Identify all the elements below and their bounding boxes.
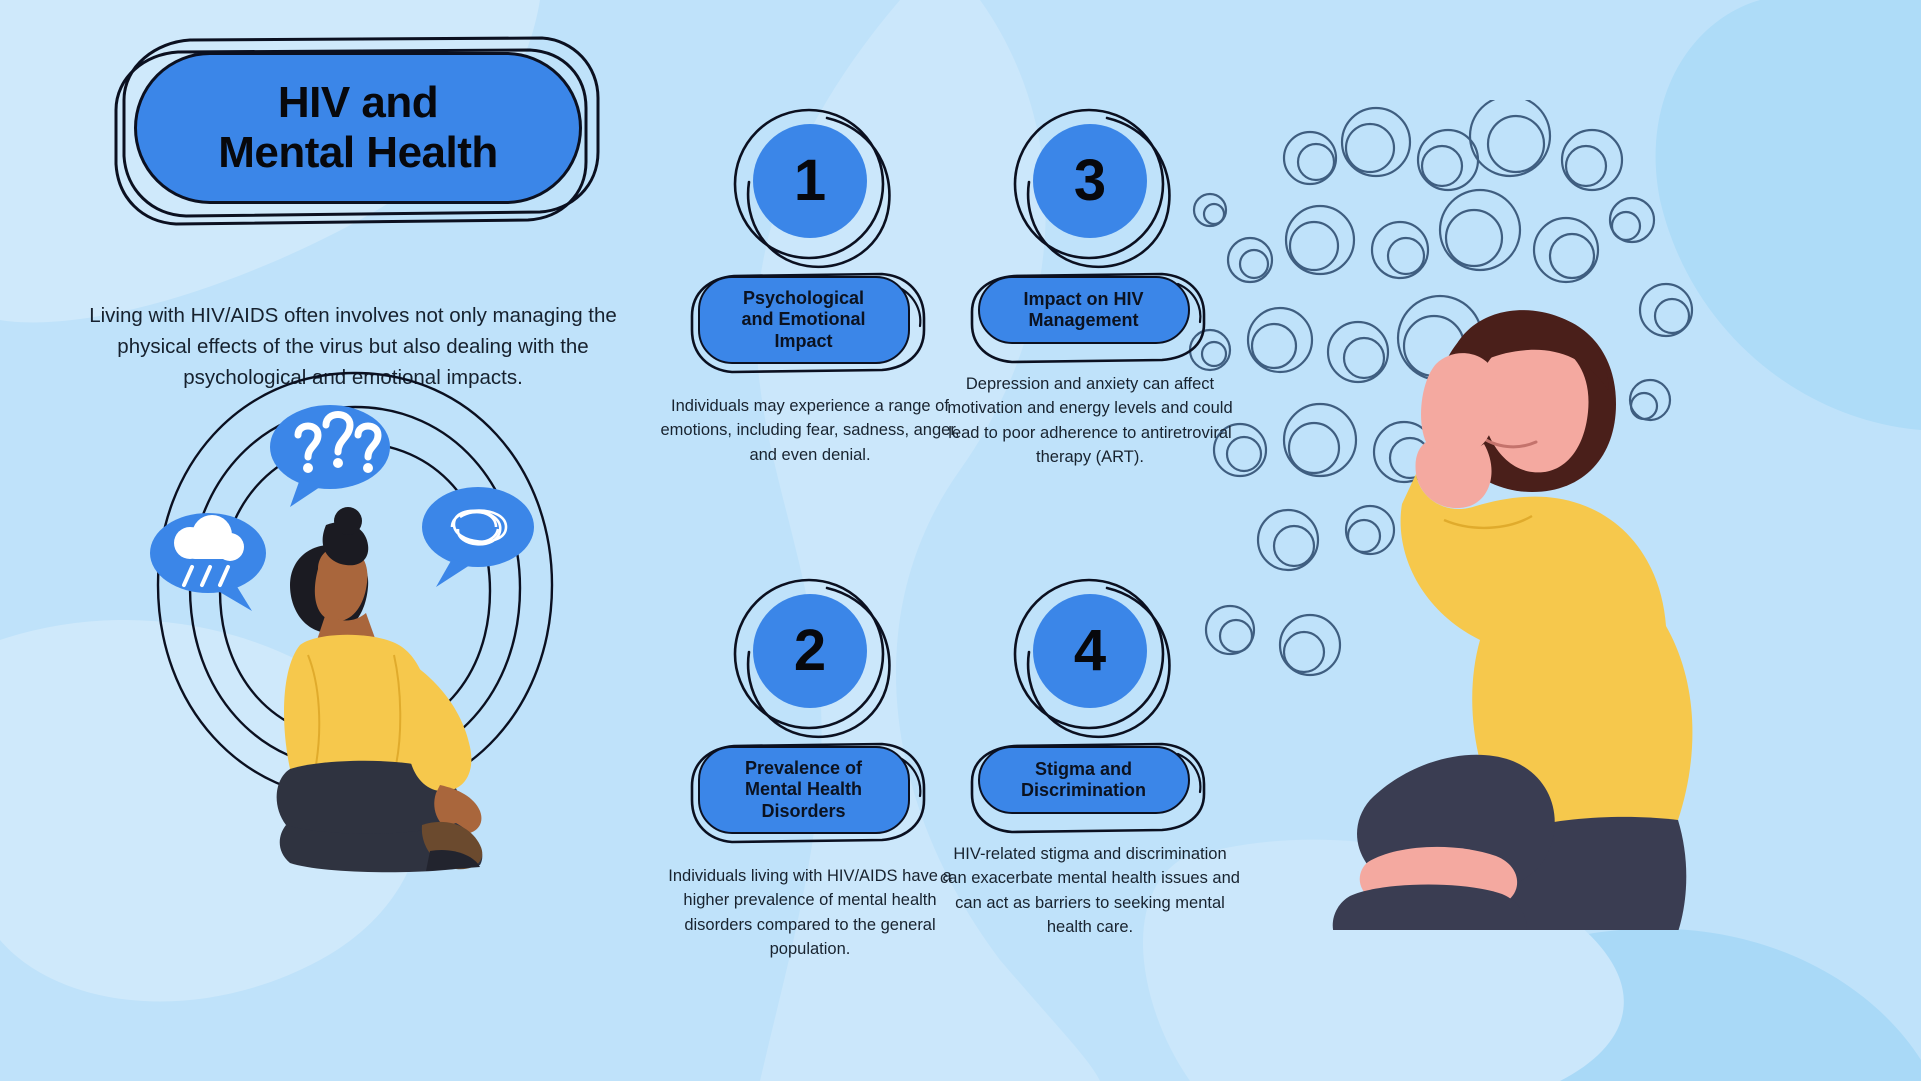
- card-3-body: Depression and anxiety can affect motiva…: [940, 372, 1240, 469]
- card-1[interactable]: 1 Psychological and Emotional Impact Ind…: [660, 108, 960, 467]
- card-3-title-line-2: Management: [1028, 310, 1138, 330]
- scribble-bubble: [422, 487, 534, 587]
- card-3-number-badge: 3: [1015, 108, 1165, 258]
- card-2-body: Individuals living with HIV/AIDS have a …: [660, 864, 960, 961]
- illustration-right: [1180, 100, 1920, 935]
- card-2-title-line-1: Prevalence of: [745, 758, 862, 778]
- question-marks-bubble: [270, 405, 390, 507]
- title-line-2: Mental Health: [218, 128, 498, 177]
- card-1-number-badge: 1: [735, 108, 885, 258]
- card-4-body: HIV-related stigma and discrimination ca…: [940, 842, 1240, 939]
- card-3-number-circle: 3: [1033, 124, 1147, 238]
- card-3-title-pill-group[interactable]: Impact on HIV Management: [978, 276, 1203, 350]
- card-2-title[interactable]: Prevalence of Mental Health Disorders: [698, 746, 910, 834]
- seated-man-illustration: [1180, 100, 1920, 930]
- card-1-number: 1: [794, 152, 826, 210]
- title-line-1: HIV and: [278, 78, 438, 127]
- card-2-number: 2: [794, 622, 826, 680]
- illustration-left: [140, 355, 570, 880]
- card-2-title-line-2: Mental Health: [745, 779, 862, 799]
- card-3-title[interactable]: Impact on HIV Management: [978, 276, 1190, 344]
- card-3-title-line-1: Impact on HIV: [1023, 289, 1143, 309]
- card-2-title-line-3: Disorders: [761, 801, 845, 821]
- card-3-number: 3: [1074, 152, 1106, 210]
- card-2-title-pill-group[interactable]: Prevalence of Mental Health Disorders: [698, 746, 923, 842]
- card-4-title-line-2: Discrimination: [1021, 780, 1146, 800]
- seated-woman-illustration: [140, 355, 570, 875]
- title-badge-group: HIV and Mental Health: [112, 34, 602, 226]
- card-1-body: Individuals may experience a range of em…: [660, 394, 960, 467]
- page-title: HIV and Mental Health: [134, 52, 582, 204]
- card-4[interactable]: 4 Stigma and Discrimination HIV-related …: [940, 578, 1240, 939]
- card-4-number: 4: [1074, 622, 1106, 680]
- card-4-title-pill-group[interactable]: Stigma and Discrimination: [978, 746, 1203, 820]
- card-4-title[interactable]: Stigma and Discrimination: [978, 746, 1190, 814]
- card-1-title-line-1: Psychological: [743, 288, 864, 308]
- infographic-canvas: HIV and Mental Health Living with HIV/AI…: [0, 0, 1921, 1081]
- card-1-title[interactable]: Psychological and Emotional Impact: [698, 276, 910, 364]
- card-1-title-line-2: and Emotional: [741, 309, 865, 329]
- rain-cloud-bubble: [150, 513, 266, 611]
- card-2-number-circle: 2: [753, 594, 867, 708]
- card-1-number-circle: 1: [753, 124, 867, 238]
- card-1-title-pill-group[interactable]: Psychological and Emotional Impact: [698, 276, 923, 372]
- man-figure: [1313, 310, 1737, 930]
- card-4-number-badge: 4: [1015, 578, 1165, 728]
- card-4-number-circle: 4: [1033, 594, 1147, 708]
- card-2-number-badge: 2: [735, 578, 885, 728]
- card-2[interactable]: 2 Prevalence of Mental Health Disorders …: [660, 578, 960, 961]
- card-3[interactable]: 3 Impact on HIV Management Depression an…: [940, 108, 1240, 469]
- card-1-title-line-3: Impact: [774, 331, 832, 351]
- card-4-title-line-1: Stigma and: [1035, 759, 1132, 779]
